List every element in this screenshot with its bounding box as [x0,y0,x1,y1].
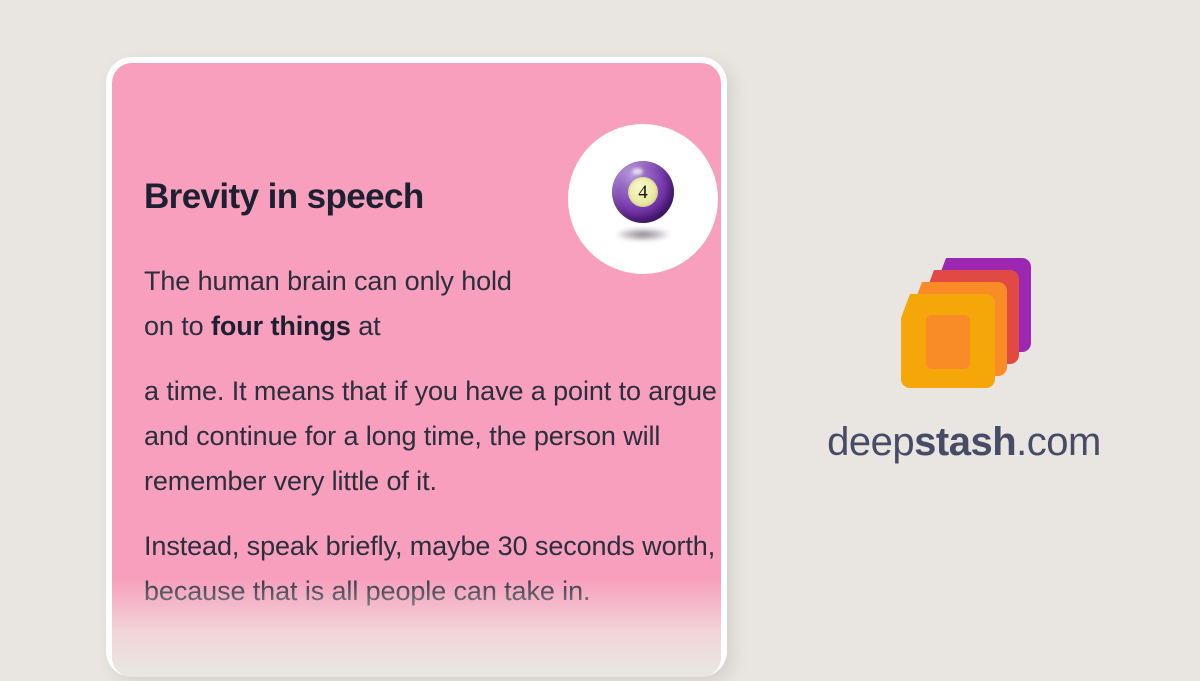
card-content: 4 Brevity in speech The human brain can … [138,63,721,677]
brand-name-light: deep [827,420,914,464]
body-text-segment: a time. It means that if you have a poin… [144,376,717,496]
brand-block: deepstash.com [813,250,1115,466]
body-text-segment: at [351,311,381,341]
card-surface: 4 Brevity in speech The human brain can … [112,63,721,677]
page-title: Brevity in speech [144,177,424,217]
card-body: The human brain can only hold on to four… [144,259,721,614]
deepstash-logo-icon [889,250,1039,400]
body-paragraph-3: Instead, speak briefly, maybe 30 seconds… [144,524,721,614]
brand-name-bold: stash [914,420,1016,464]
billiard-ball-icon: 4 [612,161,674,223]
quote-card: 4 Brevity in speech The human brain can … [106,57,727,677]
body-text-segment: Instead, speak briefly, maybe 30 seconds… [144,531,715,606]
body-text-emphasis: four things [211,311,351,341]
ball-number-label: 4 [628,177,658,207]
body-paragraph-2: a time. It means that if you have a poin… [144,369,721,504]
brand-wordmark: deepstash.com [813,418,1115,466]
card-media-circle: 4 [568,124,718,274]
brand-name-tld: .com [1016,420,1101,464]
body-paragraph-1: The human brain can only hold on to four… [144,259,544,349]
ball-shadow [616,228,670,241]
ball-highlight [632,168,643,175]
